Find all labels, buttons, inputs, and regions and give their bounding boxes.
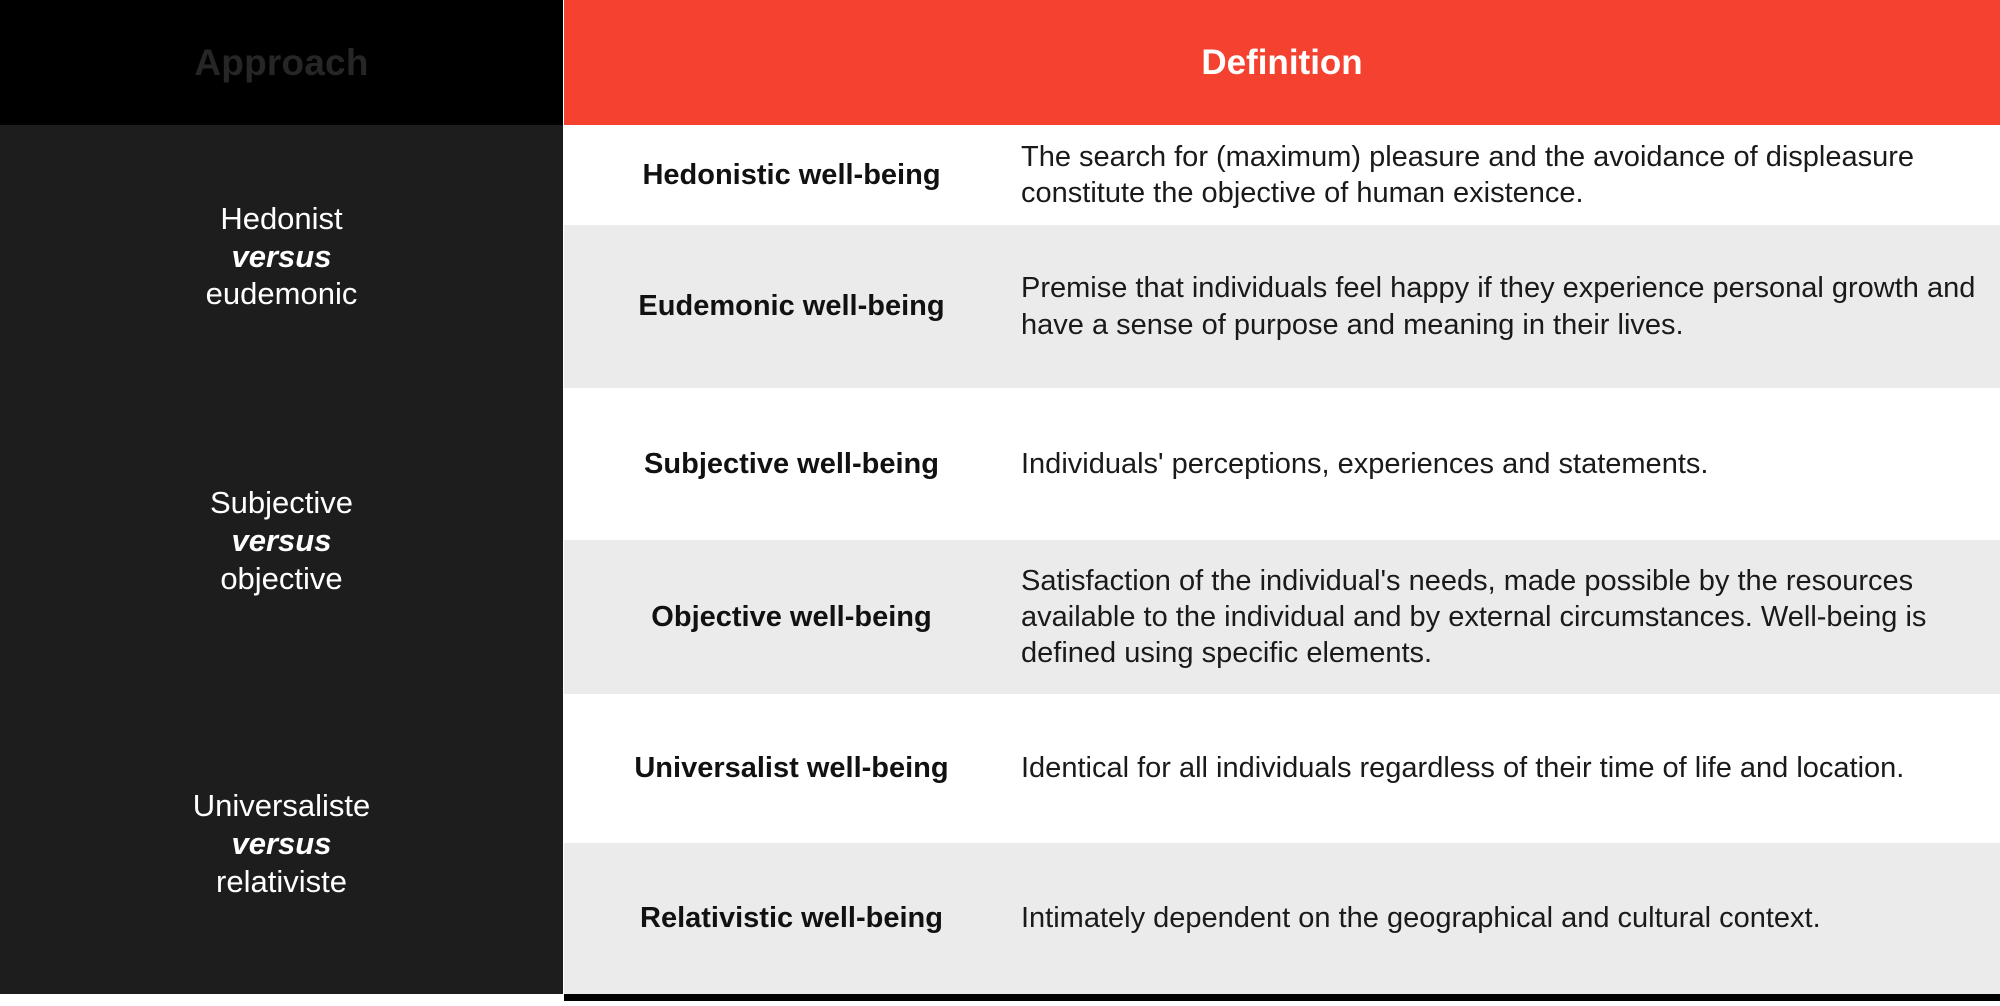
definition-column: Definition Hedonistic well-being The sea…	[564, 0, 2000, 1006]
approach-column: Approach Hedonist versus eudemonic Subje…	[0, 0, 563, 1006]
table-row: Relativistic well-being Intimately depen…	[564, 843, 2000, 994]
row-label: Universalist well-being	[564, 752, 1019, 785]
definition-bottom-edge	[564, 1001, 2000, 1006]
definition-rows: Hedonistic well-being The search for (ma…	[564, 125, 2000, 994]
approach-group-subjective: Subjective versus objective	[0, 388, 563, 694]
approach-group-line-1: Hedonist	[220, 200, 342, 238]
row-definition: Satisfaction of the individual's needs, …	[1019, 563, 2000, 672]
definition-header-label: Definition	[1201, 43, 1362, 83]
approach-group-line-2: versus	[232, 825, 332, 863]
approach-group-line-3: eudemonic	[206, 275, 358, 313]
row-label: Relativistic well-being	[564, 902, 1019, 935]
approach-group-hedonist: Hedonist versus eudemonic	[0, 125, 563, 388]
approach-header-label: Approach	[194, 42, 368, 84]
row-definition: Intimately dependent on the geographical…	[1019, 900, 2000, 936]
approach-group-universaliste: Universaliste versus relativiste	[0, 694, 563, 994]
table-row: Universalist well-being Identical for al…	[564, 694, 2000, 843]
approach-column-header: Approach	[0, 0, 563, 125]
definition-column-header: Definition	[564, 0, 2000, 125]
row-definition: Premise that individuals feel happy if t…	[1019, 270, 2000, 343]
approach-group-line-3: relativiste	[216, 863, 347, 901]
definition-bottom-rule	[564, 994, 2000, 1001]
approach-group-line-2: versus	[232, 238, 332, 276]
table-row: Eudemonic well-being Premise that indivi…	[564, 225, 2000, 388]
table-row: Objective well-being Satisfaction of the…	[564, 540, 2000, 694]
row-label: Eudemonic well-being	[564, 290, 1019, 323]
table-row: Hedonistic well-being The search for (ma…	[564, 125, 2000, 225]
row-label: Objective well-being	[564, 601, 1019, 634]
row-definition: Individuals' perceptions, experiences an…	[1019, 446, 2000, 482]
approach-group-line-2: versus	[232, 522, 332, 560]
row-label: Subjective well-being	[564, 448, 1019, 481]
approach-column-bottom-edge	[0, 994, 563, 1006]
row-definition: The search for (maximum) pleasure and th…	[1019, 139, 2000, 212]
table-row: Subjective well-being Individuals' perce…	[564, 388, 2000, 540]
approach-group-line-3: objective	[220, 560, 342, 598]
approach-column-body: Hedonist versus eudemonic Subjective ver…	[0, 125, 563, 994]
row-label: Hedonistic well-being	[564, 159, 1019, 192]
comparison-table: Approach Hedonist versus eudemonic Subje…	[0, 0, 2000, 1006]
row-definition: Identical for all individuals regardless…	[1019, 750, 2000, 786]
approach-group-line-1: Subjective	[210, 484, 353, 522]
approach-group-line-1: Universaliste	[193, 787, 370, 825]
